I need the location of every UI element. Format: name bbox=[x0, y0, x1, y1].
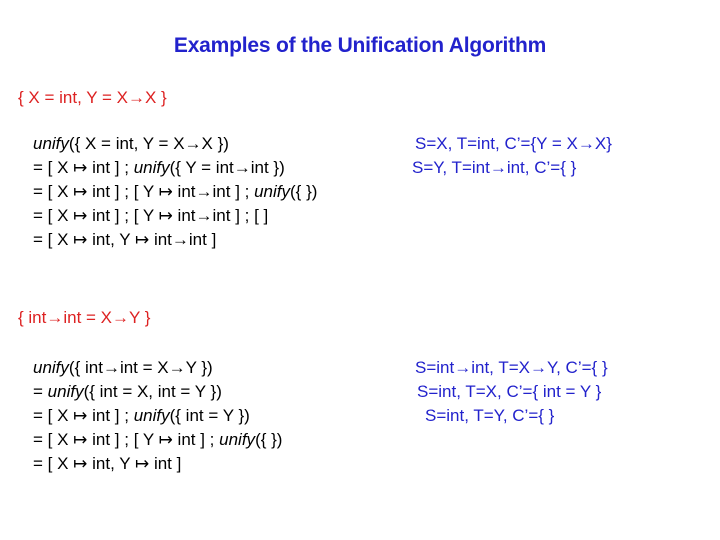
unify-keyword: unify bbox=[219, 430, 255, 449]
derivation-step: = [ X ↦ int ] ; [ Y ↦ int→int ] ; [ ] bbox=[33, 206, 268, 226]
derivation-step: unify({ X = int, Y = X→X }) bbox=[33, 134, 229, 154]
derivation-block-1: unify({ X = int, Y = X→X }) S=X, T=int, … bbox=[0, 134, 720, 254]
constraint-heading-2: { int→int = X→Y } bbox=[18, 308, 150, 328]
step-annotation: S=int, T=Y, C’={ } bbox=[425, 406, 554, 426]
unify-keyword: unify bbox=[33, 134, 69, 153]
derivation-step: = [ X ↦ int, Y ↦ int ] bbox=[33, 454, 181, 474]
derivation-step: = [ X ↦ int ] ; unify({ int = Y }) bbox=[33, 406, 250, 426]
derivation-line: = [ X ↦ int ] ; [ Y ↦ int ] ; unify({ }) bbox=[0, 430, 720, 454]
step-argument: ({ Y = int→int }) bbox=[170, 158, 285, 177]
unify-keyword: unify bbox=[134, 406, 170, 425]
derivation-line: unify({ int→int = X→Y }) S=int→int, T=X→… bbox=[0, 358, 720, 382]
derivation-line: = [ X ↦ int, Y ↦ int→int ] bbox=[0, 230, 720, 254]
step-prefix: = [ X ↦ int ] ; [ Y ↦ int→int ] ; [ ] bbox=[33, 206, 268, 225]
derivation-step: = unify({ int = X, int = Y }) bbox=[33, 382, 222, 402]
step-annotation: S=int, T=X, C’={ int = Y } bbox=[417, 382, 601, 402]
step-argument: ({ int = X, int = Y }) bbox=[84, 382, 222, 401]
step-prefix: = [ X ↦ int ] ; bbox=[33, 158, 134, 177]
derivation-line: = [ X ↦ int ] ; [ Y ↦ int→int ] ; unify(… bbox=[0, 182, 720, 206]
constraint-heading-1: { X = int, Y = X→X } bbox=[18, 88, 167, 108]
derivation-step: = [ X ↦ int ] ; [ Y ↦ int ] ; unify({ }) bbox=[33, 430, 282, 450]
unify-keyword: unify bbox=[48, 382, 84, 401]
step-prefix: = bbox=[33, 382, 48, 401]
slide-canvas: Examples of the Unification Algorithm { … bbox=[0, 0, 720, 540]
step-prefix: = [ X ↦ int ] ; [ Y ↦ int ] ; bbox=[33, 430, 219, 449]
step-annotation: S=Y, T=int→int, C’={ } bbox=[412, 158, 576, 178]
derivation-step: = [ X ↦ int ] ; unify({ Y = int→int }) bbox=[33, 158, 285, 178]
page-title: Examples of the Unification Algorithm bbox=[0, 34, 720, 58]
step-argument: ({ }) bbox=[290, 182, 317, 201]
derivation-line: unify({ X = int, Y = X→X }) S=X, T=int, … bbox=[0, 134, 720, 158]
step-annotation: S=X, T=int, C’={Y = X→X} bbox=[415, 134, 612, 154]
derivation-step: = [ X ↦ int, Y ↦ int→int ] bbox=[33, 230, 216, 250]
step-prefix: = [ X ↦ int, Y ↦ int→int ] bbox=[33, 230, 216, 249]
unify-keyword: unify bbox=[254, 182, 290, 201]
unify-keyword: unify bbox=[134, 158, 170, 177]
derivation-line: = [ X ↦ int ] ; [ Y ↦ int→int ] ; [ ] bbox=[0, 206, 720, 230]
derivation-line: = [ X ↦ int, Y ↦ int ] bbox=[0, 454, 720, 478]
step-prefix: = [ X ↦ int ] ; bbox=[33, 406, 134, 425]
derivation-block-2: unify({ int→int = X→Y }) S=int→int, T=X→… bbox=[0, 358, 720, 478]
step-prefix: = [ X ↦ int ] ; [ Y ↦ int→int ] ; bbox=[33, 182, 254, 201]
derivation-step: unify({ int→int = X→Y }) bbox=[33, 358, 213, 378]
step-argument: ({ X = int, Y = X→X }) bbox=[69, 134, 229, 153]
step-prefix: = [ X ↦ int, Y ↦ int ] bbox=[33, 454, 181, 473]
derivation-line: = [ X ↦ int ] ; unify({ Y = int→int }) S… bbox=[0, 158, 720, 182]
step-argument: ({ }) bbox=[255, 430, 282, 449]
derivation-line: = [ X ↦ int ] ; unify({ int = Y }) S=int… bbox=[0, 406, 720, 430]
unify-keyword: unify bbox=[33, 358, 69, 377]
step-argument: ({ int→int = X→Y }) bbox=[69, 358, 213, 377]
step-annotation: S=int→int, T=X→Y, C’={ } bbox=[415, 358, 608, 378]
derivation-line: = unify({ int = X, int = Y }) S=int, T=X… bbox=[0, 382, 720, 406]
derivation-step: = [ X ↦ int ] ; [ Y ↦ int→int ] ; unify(… bbox=[33, 182, 317, 202]
step-argument: ({ int = Y }) bbox=[170, 406, 250, 425]
